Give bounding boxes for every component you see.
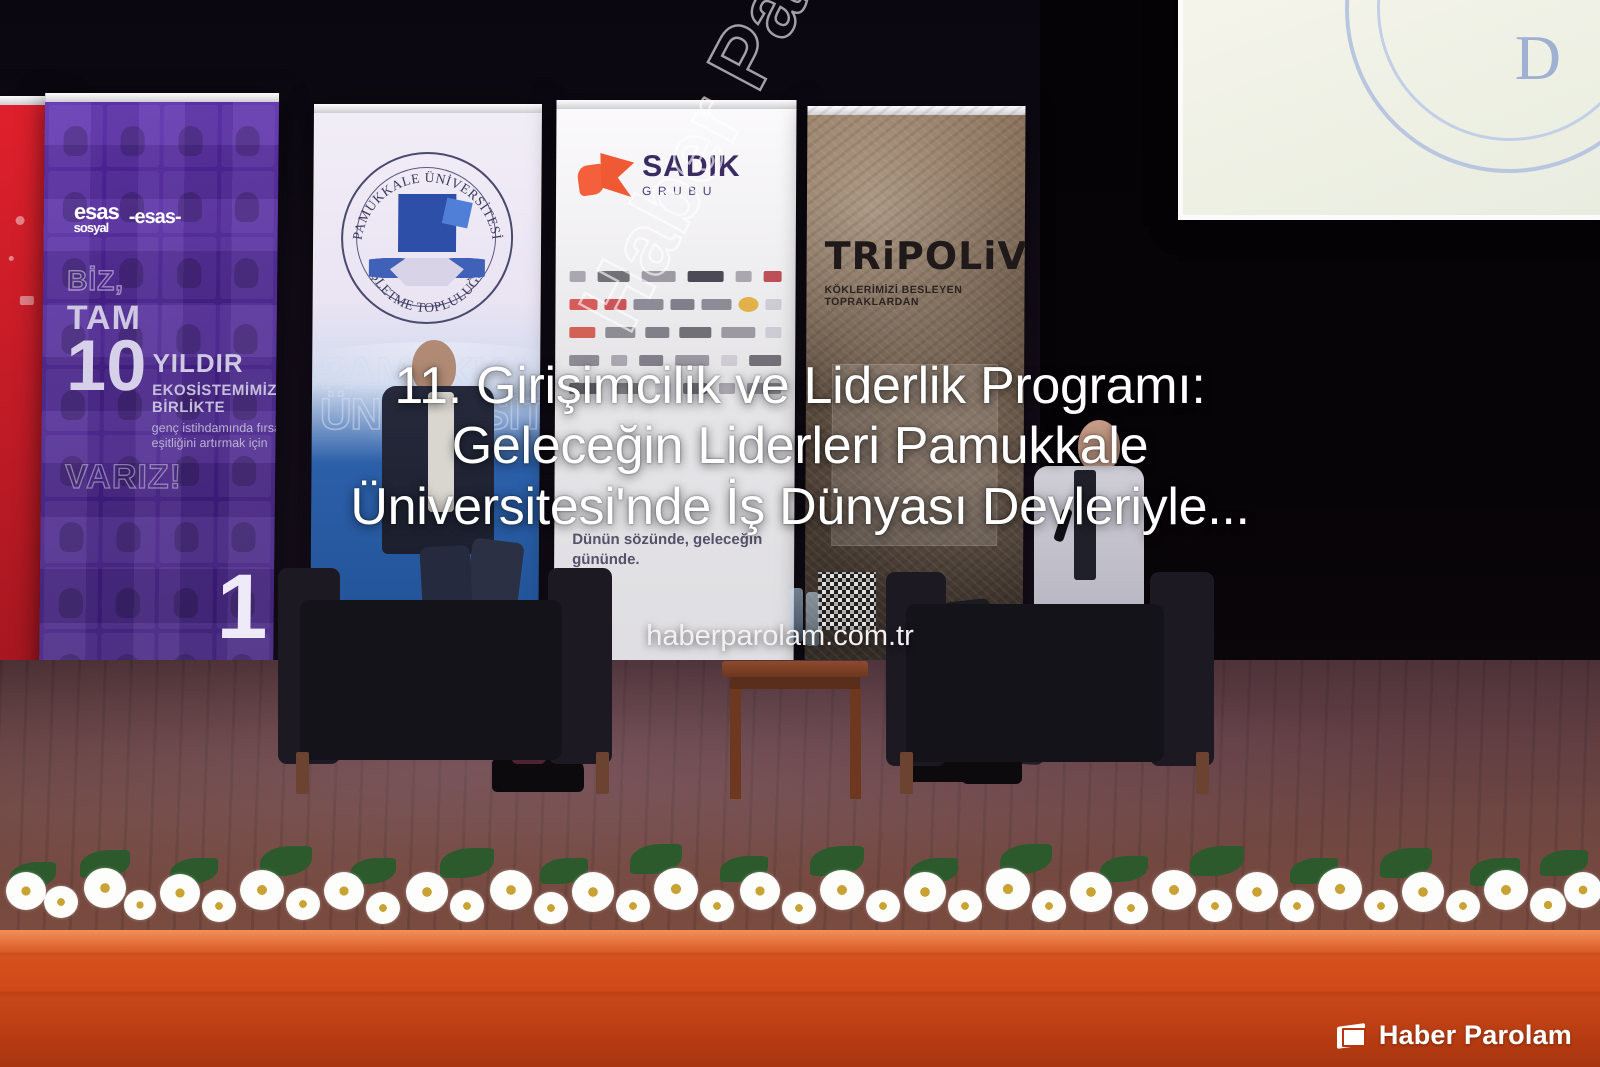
headline-line-1: 11. Girişimcilik ve Liderlik Programı: (60, 356, 1540, 416)
banner-top-bar (314, 104, 542, 113)
armchair-left-leg (596, 752, 609, 794)
banner-dot (15, 216, 24, 225)
headline-line-3: Üniversitesi'nde İş Dünyası Devleriyle..… (60, 477, 1540, 537)
news-thumbnail-image: D esas sosyal -esas- (0, 0, 1600, 1067)
newspaper-icon (1335, 1022, 1369, 1050)
tripolium-subtitle: KÖKLERİMİZİ BESLEYEN TOPRAKLARDAN (824, 284, 1020, 308)
stage-front-highlight (0, 930, 1600, 958)
armchair-left-leg (296, 752, 309, 794)
esas-logo-group: esas sosyal -esas- (74, 203, 254, 233)
tripolium-title: TRiPOLiVM (825, 234, 1015, 278)
projection-screen: D (1178, 0, 1600, 220)
brand-watermark: Haber Parolam (1335, 1020, 1572, 1051)
banner-dot (9, 256, 14, 261)
flower-row (0, 828, 1600, 946)
side-table-apron (730, 677, 860, 689)
banner-dot (20, 296, 34, 305)
headline-overlay: 11. Girişimcilik ve Liderlik Programı: G… (60, 356, 1540, 537)
armchair-right-leg (1196, 752, 1209, 794)
brand-name: Haber Parolam (1379, 1020, 1572, 1051)
pau-seal: PAMUKKALE ÜNİVERSİTESİ İŞLETME TOPLULUĞU (340, 152, 513, 324)
site-url-overlay: haberparolam.com.tr (0, 620, 1560, 653)
pau-seal-emblem (398, 194, 456, 252)
side-table-top (722, 661, 868, 677)
esas-secondary-logo: -esas- (129, 206, 181, 229)
armchair-right-leg (900, 752, 913, 794)
esas-line-biz: BİZ, (67, 265, 277, 297)
side-table-leg (850, 689, 861, 799)
screen-logo-letter: D (1515, 21, 1561, 95)
esas-sosyal-logo: esas sosyal (74, 203, 119, 233)
side-table-leg (730, 689, 741, 799)
headline-line-2: Geleceğin Liderleri Pamukkale (60, 416, 1540, 476)
